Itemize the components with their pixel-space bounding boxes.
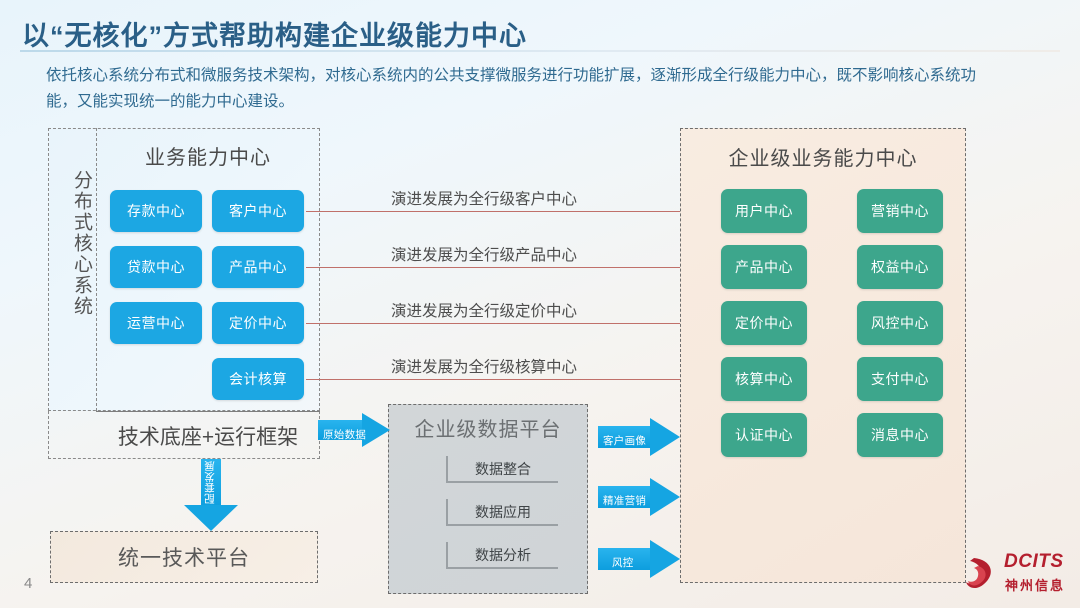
ent-box-pricing[interactable]: 定价中心 — [721, 301, 807, 345]
capability-box-loan[interactable]: 贷款中心 — [110, 246, 202, 288]
data-platform-item-integration[interactable]: 数据整合 — [446, 456, 558, 483]
ent-box-authentication[interactable]: 认证中心 — [721, 413, 807, 457]
evolution-line-3 — [306, 323, 716, 324]
capability-box-pricing[interactable]: 定价中心 — [212, 302, 304, 344]
arrow-customer-profile: 客户画像 — [598, 418, 680, 456]
ent-box-message[interactable]: 消息中心 — [857, 413, 943, 457]
arrow-risk-control: 风控 — [598, 540, 680, 578]
capability-box-operation[interactable]: 运营中心 — [110, 302, 202, 344]
ent-box-user[interactable]: 用户中心 — [721, 189, 807, 233]
ent-box-product[interactable]: 产品中心 — [721, 245, 807, 289]
arrow-risk-control-label: 风控 — [612, 555, 634, 570]
evolution-label-3: 演进发展为全行级定价中心 — [391, 299, 577, 321]
evolution-label-2: 演进发展为全行级产品中心 — [391, 243, 577, 265]
arrow-raw-data-label: 原始数据 — [323, 427, 366, 442]
arrow-supporting-development-label: 配套发展 — [202, 461, 217, 504]
left-panel-divider — [96, 128, 97, 411]
page-subtitle: 依托核心系统分布式和微服务技术架构，对核心系统内的公共支撑微服务进行功能扩展，逐… — [46, 63, 986, 115]
unified-tech-platform-box: 统一技术平台 — [50, 531, 318, 583]
evolution-label-4: 演进发展为全行级核算中心 — [391, 355, 577, 377]
evolution-line-1 — [306, 211, 716, 212]
evolution-line-2 — [306, 267, 716, 268]
ent-box-rights[interactable]: 权益中心 — [857, 245, 943, 289]
tech-base-bar: 技术底座+运行框架 — [96, 411, 320, 459]
ent-box-payment[interactable]: 支付中心 — [857, 357, 943, 401]
data-platform-item-application[interactable]: 数据应用 — [446, 499, 558, 526]
data-platform-title: 企业级数据平台 — [388, 413, 588, 442]
capability-box-deposit[interactable]: 存款中心 — [110, 190, 202, 232]
ent-box-accounting[interactable]: 核算中心 — [721, 357, 807, 401]
arrow-raw-data: 原始数据 — [318, 413, 390, 447]
slide-root: 以“无核化”方式帮助构建企业级能力中心 依托核心系统分布式和微服务技术架构，对核… — [0, 0, 1080, 608]
capability-box-product[interactable]: 产品中心 — [212, 246, 304, 288]
enterprise-capability-title: 企业级业务能力中心 — [680, 142, 966, 171]
arrow-precision-marketing: 精准营销 — [598, 478, 680, 516]
capability-box-customer[interactable]: 客户中心 — [212, 190, 304, 232]
evolution-line-4 — [306, 379, 716, 380]
data-platform-item-analysis[interactable]: 数据分析 — [446, 542, 558, 569]
page-number: 4 — [24, 575, 32, 592]
title-divider — [20, 50, 1060, 52]
ent-box-riskcontrol[interactable]: 风控中心 — [857, 301, 943, 345]
ent-box-marketing[interactable]: 营销中心 — [857, 189, 943, 233]
arrow-precision-marketing-label: 精准营销 — [603, 493, 646, 508]
capability-box-accounting[interactable]: 会计核算 — [212, 358, 304, 400]
arrow-supporting-development: 配套发展 — [184, 459, 238, 531]
distributed-core-label: 分布式核心系统 — [52, 170, 94, 317]
evolution-label-1: 演进发展为全行级客户中心 — [391, 187, 577, 209]
logo-brand: DCITS — [1004, 551, 1064, 573]
business-capability-title: 业务能力中心 — [104, 141, 312, 170]
arrow-customer-profile-label: 客户画像 — [603, 433, 646, 448]
page-title: 以“无核化”方式帮助构建企业级能力中心 — [22, 14, 527, 53]
logo-brand-cn: 神州信息 — [1005, 575, 1065, 594]
